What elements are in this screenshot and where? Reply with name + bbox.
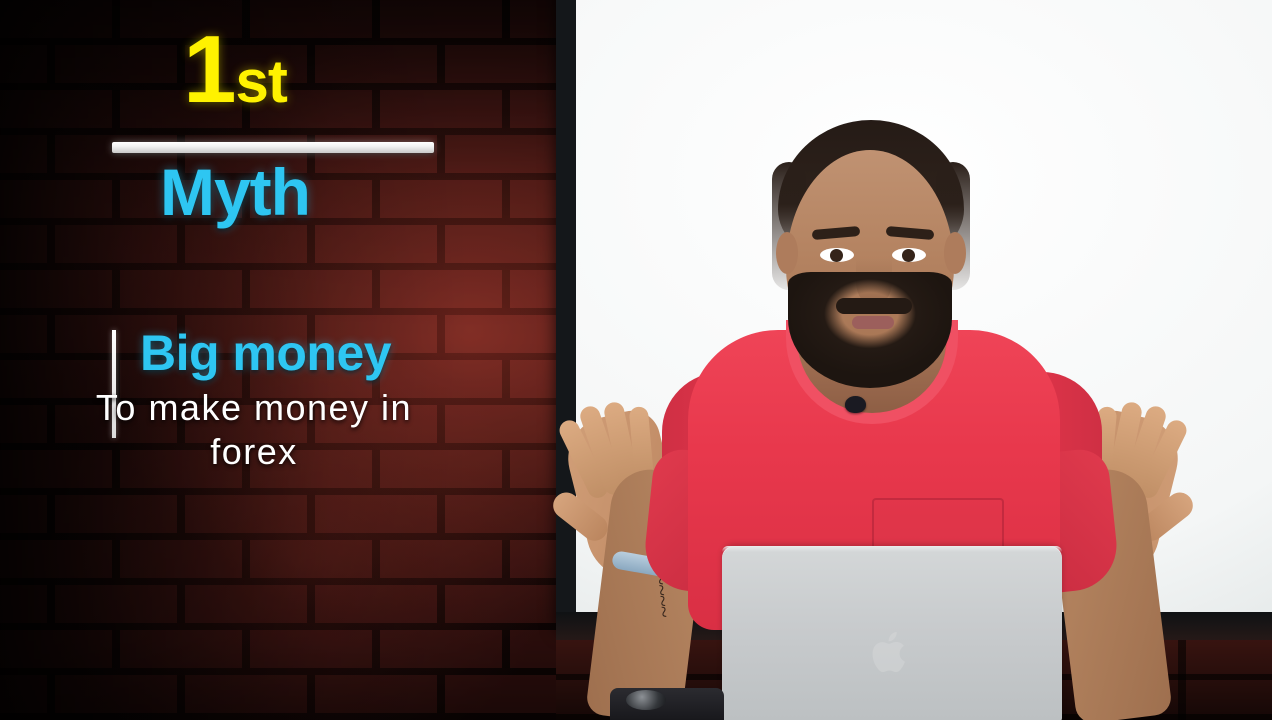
macbook-laptop <box>722 546 1062 720</box>
camera-object <box>610 688 724 720</box>
myth-number: 1st <box>0 24 470 116</box>
right-eye <box>892 248 926 262</box>
myth-body-heading: Big money <box>140 324 391 382</box>
myth-title-block: 1st <box>0 24 470 116</box>
pupil <box>902 249 915 262</box>
left-eye <box>820 248 854 262</box>
pupil <box>830 249 843 262</box>
mustache <box>836 298 912 314</box>
myth-body-line-2: forex <box>12 430 496 474</box>
camera-lens <box>626 690 666 710</box>
left-ear <box>776 232 798 274</box>
myth-number-value: 1 <box>183 16 235 123</box>
mouth <box>852 316 894 329</box>
video-frame: ~~~~ the 1st <box>0 0 1272 720</box>
text-overlay: 1st Myth Big money To make money in fore… <box>0 0 560 720</box>
lavalier-mic-clip-icon <box>845 396 866 413</box>
myth-number-ordinal: st <box>236 48 287 115</box>
laptop-lid-edge <box>722 546 1062 552</box>
myth-body-line-1: To make money in <box>12 386 496 430</box>
myth-body-description: To make money in forex <box>12 386 496 474</box>
title-divider-rule <box>112 142 434 153</box>
myth-subtitle: Myth <box>0 154 470 230</box>
apple-logo-icon <box>872 628 912 676</box>
right-ear <box>944 232 966 274</box>
